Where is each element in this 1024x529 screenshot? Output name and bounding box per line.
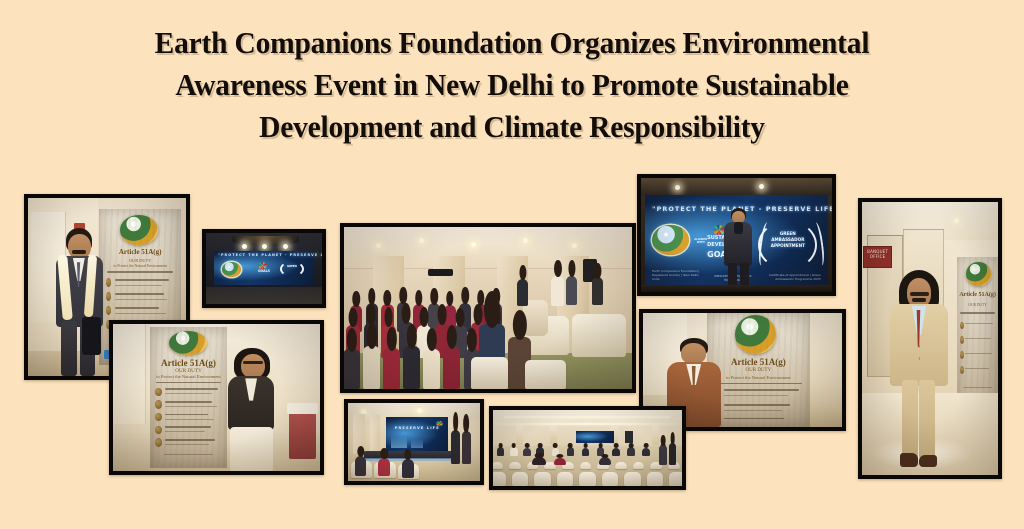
photo-collage: Article 51A(g) OUR DUTY to Protect the N… xyxy=(0,0,1024,529)
foundation-globe-emblem xyxy=(652,225,689,255)
person-in-photo xyxy=(723,208,754,290)
person-in-photo xyxy=(47,228,110,376)
screen-fine-print-left: Earth Companions Foundation | Registered… xyxy=(652,269,700,281)
photo-speaker-protect-the-planet-screen: "PROTECT THE PLANET - PRESERVE LIFE" ALI… xyxy=(637,174,836,296)
photo-stage-led-screen-wide: "PROTECT THE PLANET - PRESERVE LIFE" GOA… xyxy=(202,229,326,308)
standee-banner: Article 51A(g) OUR DUTY to Protect the N… xyxy=(150,327,227,468)
standee-tagline: to Protect the Natural Environment xyxy=(709,375,808,380)
photo-stage-presentation-seating: PRESERVE LIFE xyxy=(344,399,484,485)
screen-fine-print-right: Certificate of Appointment | Green Ambas… xyxy=(766,273,821,281)
photo-man-beige-suit: BANQUET OFFICE Article 51A(g) OUR DUTY xyxy=(858,198,1002,479)
person-in-photo xyxy=(889,270,949,467)
photo-woman-blazer-banner: Article 51A(g) OUR DUTY to Protect the N… xyxy=(109,320,324,475)
standee-title: Article 51A(g) xyxy=(713,357,804,367)
photo-banquet-hall-rows xyxy=(489,406,686,490)
award-line-3: APPOINTMENT xyxy=(766,244,810,249)
photo-audience-seated xyxy=(340,223,636,393)
standee-banner: Article 51A(g) OUR DUTY to Protect the N… xyxy=(707,313,810,427)
banquet-office-sign: BANQUET OFFICE xyxy=(863,246,892,268)
person-in-photo xyxy=(225,348,279,471)
standee-subtitle: OUR DUTY xyxy=(719,368,798,373)
award-line-1: GREEN xyxy=(769,232,806,237)
